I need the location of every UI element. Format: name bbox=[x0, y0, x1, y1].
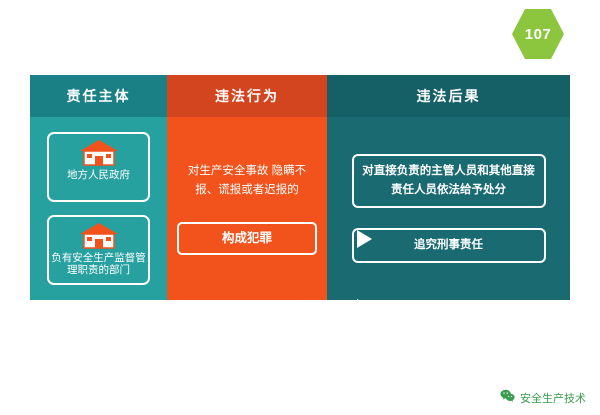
arrow-right-icon bbox=[357, 299, 372, 317]
responsibility-flow-diagram: 责任主体 地方人民政府 bbox=[30, 75, 570, 300]
column-body-result: 对直接负责的主管人员和其他直接责任人员依法给予处分 追究刑事责任 bbox=[327, 117, 570, 300]
house-icon bbox=[78, 138, 120, 168]
subject-card-label: 负有安全生产监督管理职责的部门 bbox=[49, 252, 148, 276]
column-illegal-act: 违法行为 对生产安全事故 隐瞒不报、谎报或者迟报的 构成犯罪 bbox=[167, 75, 327, 300]
column-body-act: 对生产安全事故 隐瞒不报、谎报或者迟报的 构成犯罪 bbox=[167, 117, 327, 300]
act-item-concealment: 对生产安全事故 隐瞒不报、谎报或者迟报的 bbox=[177, 162, 317, 200]
column-header-act: 违法行为 bbox=[167, 75, 327, 117]
page-number-badge: 107 bbox=[512, 8, 564, 60]
column-body-subject: 地方人民政府 负有安全生产监督管理职责的部门 bbox=[30, 117, 167, 300]
arrow-right-icon bbox=[357, 230, 372, 248]
subject-card-label: 地方人民政府 bbox=[67, 169, 130, 181]
result-item-criminal: 追究刑事责任 bbox=[352, 228, 546, 263]
subject-card-local-government: 地方人民政府 bbox=[47, 132, 150, 202]
footer-watermark: 安全生产技术 bbox=[0, 389, 600, 407]
house-icon bbox=[78, 221, 120, 251]
column-legal-consequence: 违法后果 对直接负责的主管人员和其他直接责任人员依法给予处分 追究刑事责任 bbox=[327, 75, 570, 300]
column-responsible-subject: 责任主体 地方人民政府 bbox=[30, 75, 167, 300]
act-item-crime: 构成犯罪 bbox=[177, 222, 317, 255]
page-number: 107 bbox=[525, 26, 552, 43]
wechat-icon bbox=[500, 389, 515, 407]
column-header-result: 违法后果 bbox=[327, 75, 570, 117]
wechat-account-name: 安全生产技术 bbox=[520, 390, 586, 406]
column-header-subject: 责任主体 bbox=[30, 75, 167, 117]
subject-card-supervision-department: 负有安全生产监督管理职责的部门 bbox=[47, 215, 150, 285]
result-item-disciplinary: 对直接负责的主管人员和其他直接责任人员依法给予处分 bbox=[352, 154, 546, 208]
hexagon-shape: 107 bbox=[512, 8, 564, 60]
